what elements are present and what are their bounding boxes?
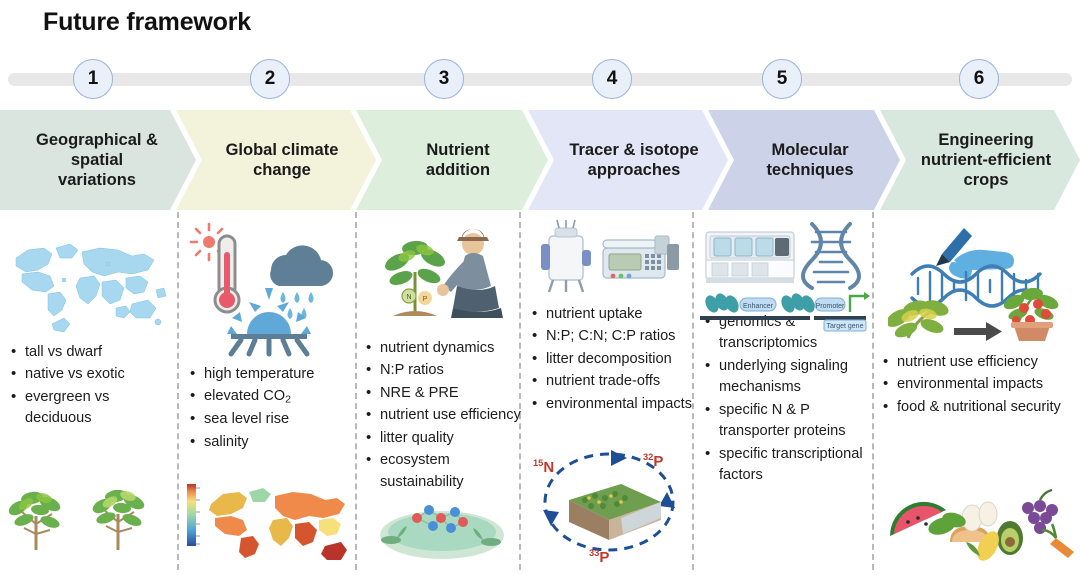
column-1: tall vs dwarf native vs exotic evergreen… bbox=[0, 212, 177, 575]
chevron-4-line-1: Tracer & isotope bbox=[569, 140, 698, 160]
list-item: environmental impacts bbox=[882, 374, 1080, 395]
shrub-plants-illustration bbox=[6, 464, 166, 554]
list-item: salinity bbox=[189, 432, 354, 453]
gene-editing-dna-illustration bbox=[888, 216, 1068, 341]
chevron-step-2[interactable]: Global climate change bbox=[176, 110, 376, 210]
researcher-fertilizing-plant-illustration: N P bbox=[369, 220, 519, 330]
list-item: sea level rise bbox=[189, 409, 354, 430]
svg-text:P: P bbox=[423, 296, 428, 303]
list-item: litter decomposition bbox=[531, 349, 693, 370]
list-item: food & nutritional security bbox=[882, 397, 1080, 418]
list-item: nutrient use efficiency bbox=[365, 405, 521, 426]
chevron-6-line-1: Engineering bbox=[921, 130, 1051, 150]
isotope-tracer-field-illustration: 15N 32P 33P bbox=[525, 440, 690, 570]
gene-construct-illustration: Enhancer Promoter Target gene bbox=[698, 290, 870, 332]
page-title: Future framework bbox=[43, 8, 251, 37]
climate-heatmap-map-illustration bbox=[185, 470, 350, 565]
column-3: N P nutrient dynamics N:P ratios NRE & P… bbox=[357, 212, 519, 575]
list-item: nutrient trade-offs bbox=[531, 371, 693, 392]
column-4: nutrient uptake N:P; C:N; C:P ratios lit… bbox=[521, 212, 692, 575]
list-item: specific transcriptional factors bbox=[704, 444, 872, 487]
step-number-5[interactable]: 5 bbox=[762, 59, 802, 99]
chevron-3-line-2: addition bbox=[426, 160, 490, 180]
list-item: nutrient use efficiency bbox=[882, 352, 1080, 373]
column-6: nutrient use efficiency environmental im… bbox=[874, 212, 1080, 575]
chevron-4-line-2: approaches bbox=[569, 160, 698, 180]
svg-text:N: N bbox=[406, 294, 411, 301]
timeline-bar bbox=[8, 73, 1072, 86]
list-item: native vs exotic bbox=[10, 364, 170, 385]
svg-text:Enhancer: Enhancer bbox=[743, 303, 774, 310]
column-4-bullet-list: nutrient uptake N:P; C:N; C:P ratios lit… bbox=[531, 304, 693, 416]
chevron-step-5[interactable]: Molecular techniques bbox=[708, 110, 900, 210]
column-1-bullet-list: tall vs dwarf native vs exotic evergreen… bbox=[10, 342, 170, 431]
list-item: elevated CO2 bbox=[189, 386, 354, 408]
column-3-bullet-list: nutrient dynamics N:P ratios NRE & PRE n… bbox=[365, 338, 521, 494]
list-item: NRE & PRE bbox=[365, 383, 521, 404]
chevron-6-line-3: crops bbox=[921, 170, 1051, 190]
isotope-label-p32: 32P bbox=[643, 452, 663, 470]
chevron-1-line-2: spatial bbox=[36, 150, 158, 170]
step-number-6[interactable]: 6 bbox=[959, 59, 999, 99]
list-item: specific N & P transporter proteins bbox=[704, 400, 872, 443]
step-number-1[interactable]: 1 bbox=[73, 59, 113, 99]
sequencer-and-dna-illustration bbox=[700, 216, 868, 296]
column-6-bullet-list: nutrient use efficiency environmental im… bbox=[882, 352, 1080, 419]
list-item: N:P ratios bbox=[365, 360, 521, 381]
column-2-bullet-list: high temperature elevated CO2 sea level … bbox=[189, 364, 354, 454]
chevron-5-line-1: Molecular bbox=[766, 140, 853, 160]
chevron-step-3[interactable]: Nutrient addition bbox=[356, 110, 548, 210]
chevron-2-line-1: Global climate bbox=[226, 140, 339, 160]
chevron-band: Geographical & spatial variations Global… bbox=[0, 110, 1080, 210]
step-number-2[interactable]: 2 bbox=[250, 59, 290, 99]
chevron-step-6[interactable]: Engineering nutrient-efficient crops bbox=[880, 110, 1080, 210]
climate-icons-illustration bbox=[187, 222, 347, 357]
svg-text:Promoter: Promoter bbox=[816, 303, 845, 310]
isotope-label-p33: 33P bbox=[589, 548, 609, 566]
chevron-6-line-2: nutrient-efficient bbox=[921, 150, 1051, 170]
world-map-illustration bbox=[8, 230, 168, 335]
list-item: litter quality bbox=[365, 428, 521, 449]
svg-text:Target gene: Target gene bbox=[827, 323, 864, 330]
infographic-canvas: Future framework 1 2 3 4 5 6 Geographica… bbox=[0, 0, 1080, 575]
list-item: underlying signaling mechanisms bbox=[704, 356, 872, 399]
list-item: high temperature bbox=[189, 364, 354, 385]
list-item: nutrient dynamics bbox=[365, 338, 521, 359]
step-number-4[interactable]: 4 bbox=[592, 59, 632, 99]
harvest-produce-illustration bbox=[882, 462, 1080, 562]
nutrient-pond-illustration bbox=[367, 480, 517, 565]
isotope-label-n15: 15N bbox=[533, 458, 554, 476]
chevron-1-line-3: variations bbox=[36, 170, 158, 190]
column-5-bullet-list: genomics & transcriptomics underlying si… bbox=[704, 312, 872, 488]
chevron-1-line-1: Geographical & bbox=[36, 130, 158, 150]
list-item: tall vs dwarf bbox=[10, 342, 170, 363]
list-item: environmental impacts bbox=[531, 394, 693, 415]
list-item: nutrient uptake bbox=[531, 304, 693, 325]
chevron-5-line-2: techniques bbox=[766, 160, 853, 180]
chevron-3-line-1: Nutrient bbox=[426, 140, 490, 160]
list-item: N:P; C:N; C:P ratios bbox=[531, 326, 693, 347]
chevron-step-4[interactable]: Tracer & isotope approaches bbox=[528, 110, 728, 210]
chevron-step-1[interactable]: Geographical & spatial variations bbox=[0, 110, 196, 210]
list-item: evergreen vs deciduous bbox=[10, 387, 170, 430]
chevron-2-line-2: change bbox=[226, 160, 339, 180]
lab-instruments-illustration bbox=[529, 218, 689, 298]
column-5: genomics & transcriptomics underlying si… bbox=[694, 212, 872, 575]
step-number-3[interactable]: 3 bbox=[424, 59, 464, 99]
column-2: high temperature elevated CO2 sea level … bbox=[179, 212, 355, 575]
